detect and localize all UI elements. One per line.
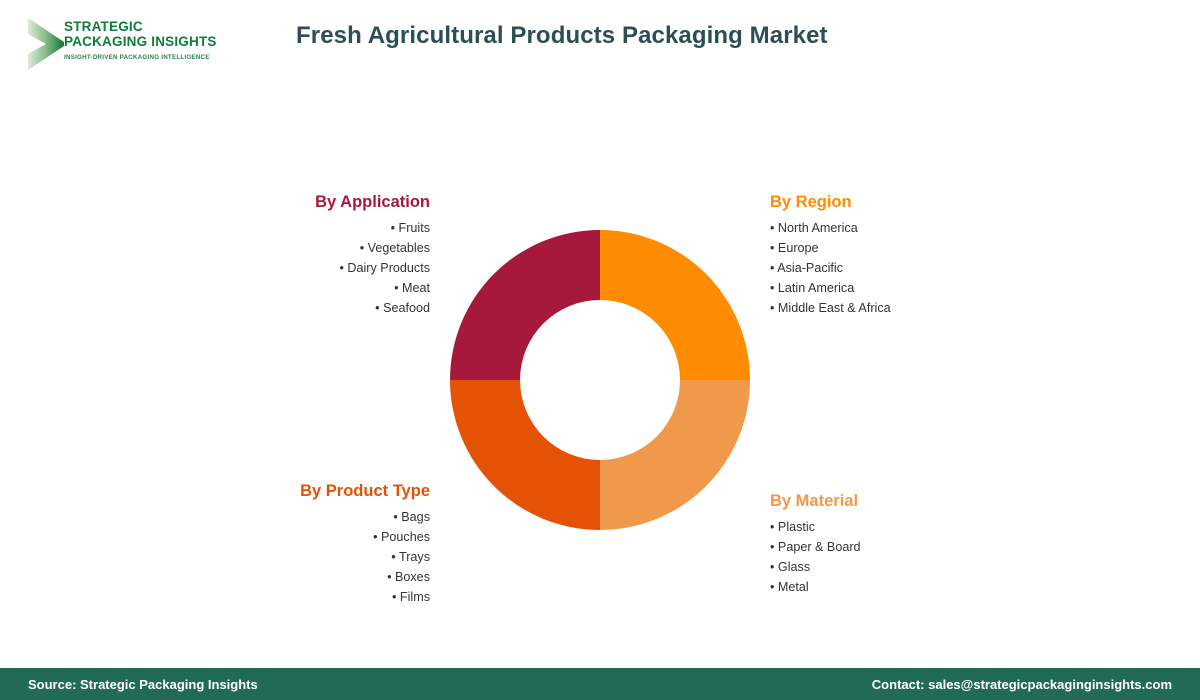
list-item-label: Meat — [402, 281, 430, 295]
segment-list-product-type: • Bags • Pouches • Trays • Boxes • Films — [186, 507, 430, 607]
bullet-icon: • — [770, 540, 774, 554]
segment-block-product-type: By Product Type • Bags • Pouches • Trays… — [186, 482, 430, 607]
infographic-page: STRATEGIC PACKAGING INSIGHTS INSIGHT-DRI… — [0, 0, 1200, 700]
bullet-icon: • — [770, 261, 774, 275]
list-item-label: Bags — [401, 510, 430, 524]
bullet-icon: • — [373, 530, 377, 544]
segment-list-material: • Plastic • Paper & Board • Glass • Meta… — [770, 517, 1030, 597]
bullet-icon: • — [339, 261, 343, 275]
donut-slice-product-type[interactable] — [450, 380, 600, 530]
list-item-label: Vegetables — [368, 241, 430, 255]
segment-title-application: By Application — [186, 193, 430, 212]
list-item: • Middle East & Africa — [770, 298, 1030, 318]
list-item: • North America — [770, 218, 1030, 238]
bullet-icon: • — [391, 221, 395, 235]
list-item-label: Seafood — [383, 301, 430, 315]
list-item-label: North America — [778, 221, 858, 235]
segment-list-region: • North America • Europe • Asia-Pacific … — [770, 218, 1030, 318]
list-item-label: Fruits — [399, 221, 430, 235]
list-item: • Films — [186, 587, 430, 607]
footer-contact[interactable]: Contact: sales@strategicpackaginginsight… — [872, 677, 1172, 692]
segment-title-product-type: By Product Type — [186, 482, 430, 501]
brand-line-1: STRATEGIC — [64, 20, 274, 35]
bullet-icon: • — [770, 221, 774, 235]
list-item: • Latin America — [770, 278, 1030, 298]
bullet-icon: • — [360, 241, 364, 255]
list-item: • Boxes — [186, 567, 430, 587]
chevron-logo-icon — [24, 16, 68, 72]
list-item: • Plastic — [770, 517, 1030, 537]
list-item-label: Pouches — [381, 530, 430, 544]
list-item-label: Latin America — [778, 281, 854, 295]
list-item-label: Middle East & Africa — [778, 301, 891, 315]
bullet-icon: • — [391, 550, 395, 564]
bullet-icon: • — [394, 281, 398, 295]
footer-bar: Source: Strategic Packaging Insights Con… — [0, 668, 1200, 700]
list-item-label: Dairy Products — [347, 261, 430, 275]
bullet-icon: • — [770, 301, 774, 315]
bullet-icon: • — [770, 281, 774, 295]
brand-wordmark: STRATEGIC PACKAGING INSIGHTS INSIGHT-DRI… — [64, 20, 274, 61]
list-item-label: Paper & Board — [778, 540, 861, 554]
segment-block-region: By Region • North America • Europe • Asi… — [770, 193, 1030, 318]
bullet-icon: • — [770, 560, 774, 574]
list-item-label: Asia-Pacific — [777, 261, 843, 275]
donut-slice-material[interactable] — [600, 380, 750, 530]
list-item: • Metal — [770, 577, 1030, 597]
list-item: • Seafood — [186, 298, 430, 318]
page-title: Fresh Agricultural Products Packaging Ma… — [296, 22, 828, 50]
list-item: • Meat — [186, 278, 430, 298]
list-item: • Pouches — [186, 527, 430, 547]
segment-block-material: By Material • Plastic • Paper & Board • … — [770, 492, 1030, 597]
list-item: • Bags — [186, 507, 430, 527]
brand-logo: STRATEGIC PACKAGING INSIGHTS INSIGHT-DRI… — [24, 14, 274, 76]
bullet-icon: • — [393, 510, 397, 524]
bullet-icon: • — [770, 520, 774, 534]
list-item: • Vegetables — [186, 238, 430, 258]
list-item-label: Plastic — [778, 520, 815, 534]
list-item: • Paper & Board — [770, 537, 1030, 557]
list-item-label: Films — [400, 590, 430, 604]
list-item: • Trays — [186, 547, 430, 567]
donut-chart — [450, 230, 750, 530]
brand-tagline: INSIGHT-DRIVEN PACKAGING INTELLIGENCE — [64, 54, 274, 61]
list-item-label: Europe — [778, 241, 819, 255]
brand-line-2: PACKAGING INSIGHTS — [64, 35, 274, 50]
list-item: • Dairy Products — [186, 258, 430, 278]
footer-source: Source: Strategic Packaging Insights — [28, 677, 258, 692]
bullet-icon: • — [387, 570, 391, 584]
bullet-icon: • — [770, 241, 774, 255]
segment-block-application: By Application • Fruits • Vegetables • D… — [186, 193, 430, 318]
list-item: • Europe — [770, 238, 1030, 258]
segment-list-application: • Fruits • Vegetables • Dairy Products •… — [186, 218, 430, 318]
list-item: • Glass — [770, 557, 1030, 577]
list-item-label: Glass — [778, 560, 810, 574]
segment-title-material: By Material — [770, 492, 1030, 511]
bullet-icon: • — [770, 580, 774, 594]
bullet-icon: • — [392, 590, 396, 604]
list-item: • Fruits — [186, 218, 430, 238]
bullet-icon: • — [375, 301, 379, 315]
donut-slice-region[interactable] — [600, 230, 750, 380]
donut-slice-application[interactable] — [450, 230, 600, 380]
list-item-label: Boxes — [395, 570, 430, 584]
segment-title-region: By Region — [770, 193, 1030, 212]
list-item: • Asia-Pacific — [770, 258, 1030, 278]
list-item-label: Trays — [399, 550, 430, 564]
list-item-label: Metal — [778, 580, 809, 594]
